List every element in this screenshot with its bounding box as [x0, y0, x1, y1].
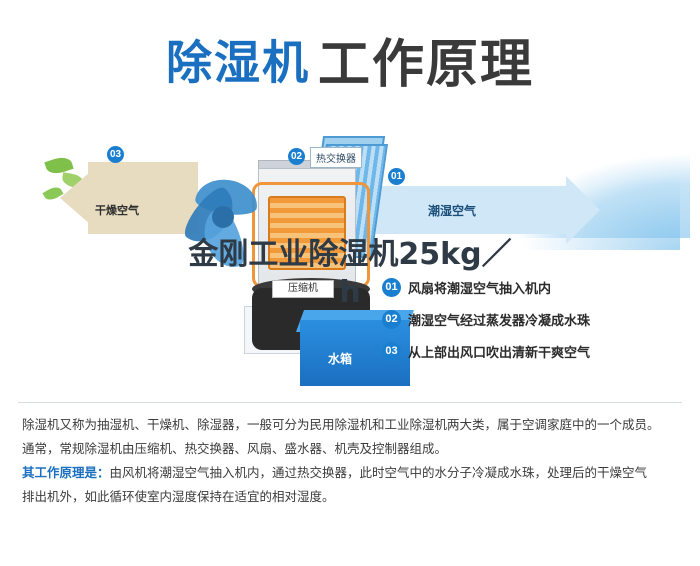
overlay-title-line1: 金刚工业除湿机25kg／	[0, 236, 700, 274]
heat-exchanger-tag: 热交换器	[310, 147, 362, 168]
moist-air-arrow-head	[566, 176, 600, 244]
paragraph-4: 排出机外，如此循环使室内湿度保持在适宜的相对湿度。	[22, 486, 682, 508]
legend-list: 01 风扇将潮湿空气抽入机内 02 潮湿空气经过蒸发器冷凝成水珠 03 从上部出…	[382, 278, 682, 374]
page-title-gray: 工作原理	[318, 35, 534, 95]
legend-badge: 02	[382, 310, 401, 329]
legend-label: 风扇将潮湿空气抽入机内	[408, 278, 551, 297]
paragraph-3: 其工作原理是：由风机将潮湿空气抽入机内，通过热交换器，此时空气中的水分子冷凝成水…	[22, 462, 682, 484]
page-root: 除湿机工作原理 干燥空气 03 潮湿空气 01 压缩机 水箱 02	[0, 0, 700, 566]
paragraph-2: 通常，常规除湿机由压缩机、热交换器、风扇、盛水器、机壳及控制器组成。	[22, 438, 682, 460]
page-title: 除湿机工作原理	[0, 22, 700, 97]
body-text: 除湿机又称为抽湿机、干燥机、除湿器，一般可分为民用除湿机和工业除湿机两大类，属于…	[22, 414, 682, 510]
badge-02-illustration: 02	[288, 148, 305, 165]
dry-air-arrow	[88, 162, 198, 234]
moist-air-label: 潮湿空气	[428, 202, 476, 219]
paragraph-3-lead: 其工作原理是：	[22, 466, 110, 480]
water-tank-label: 水箱	[328, 350, 352, 367]
legend-item: 01 风扇将潮湿空气抽入机内	[382, 278, 682, 297]
legend-label: 潮湿空气经过蒸发器冷凝成水珠	[408, 310, 590, 329]
legend-item: 02 潮湿空气经过蒸发器冷凝成水珠	[382, 310, 682, 329]
bottom-spacer	[0, 540, 700, 566]
dry-air-label: 干燥空气	[95, 202, 139, 218]
legend-badge: 03	[382, 342, 401, 361]
page-title-blue: 除湿机	[166, 36, 310, 90]
paragraph-3-text: 由风机将潮湿空气抽入机内，通过热交换器，此时空气中的水分子冷凝成水珠，处理后的干…	[110, 466, 648, 480]
legend-badge: 01	[382, 278, 401, 297]
fan-hub	[212, 206, 234, 228]
divider	[18, 402, 682, 403]
badge-03-illustration: 03	[107, 146, 124, 163]
legend-item: 03 从上部出风口吹出清新干爽空气	[382, 342, 682, 361]
legend-label: 从上部出风口吹出清新干爽空气	[408, 342, 590, 361]
dry-air-arrow-tail	[60, 172, 90, 224]
paragraph-1: 除湿机又称为抽湿机、干燥机、除湿器，一般可分为民用除湿机和工业除湿机两大类，属于…	[22, 414, 682, 436]
badge-01-illustration: 01	[388, 168, 405, 185]
